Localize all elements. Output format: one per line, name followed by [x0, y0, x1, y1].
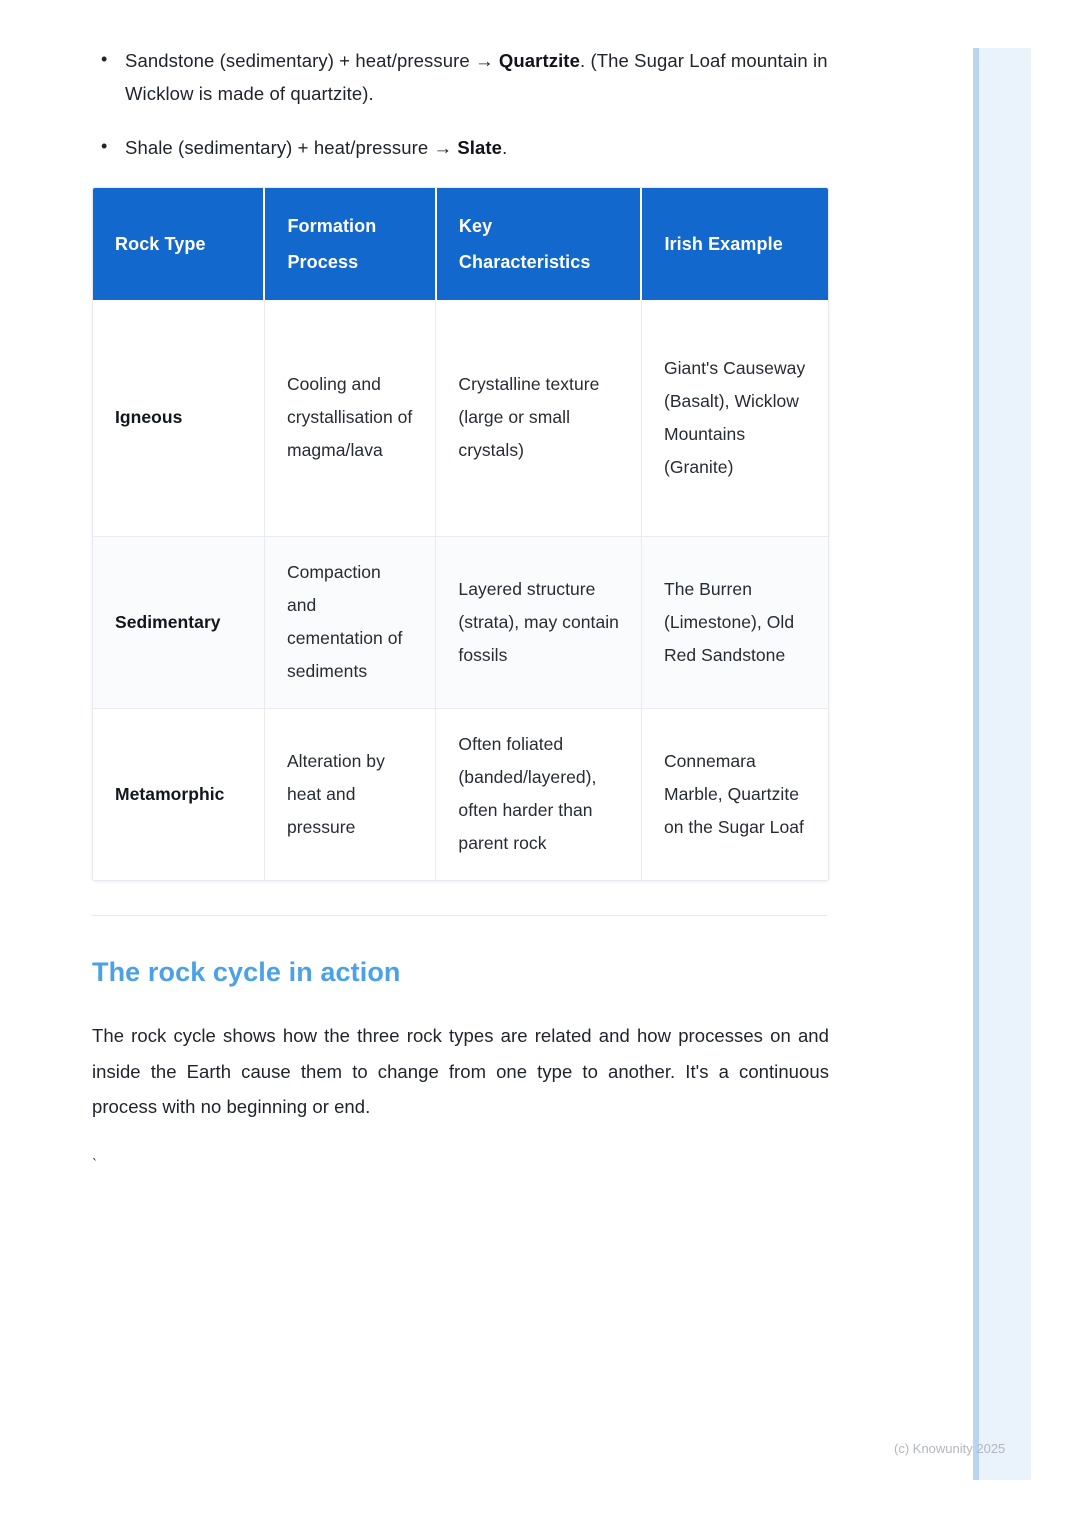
- cell-formation-process: Cooling and crystallisation of magma/lav…: [264, 300, 435, 536]
- cell-rock-type: Sedimentary: [93, 536, 264, 708]
- cell-irish-example: Connemara Marble, Quartzite on the Sugar…: [641, 708, 828, 880]
- list-item: Shale (sedimentary) + heat/pressure → Sl…: [92, 131, 881, 164]
- table-row: Igneous Cooling and crystallisation of m…: [93, 300, 828, 536]
- cell-rock-type: Igneous: [93, 300, 264, 536]
- rock-types-table: Rock Type Formation Process Key Characte…: [93, 188, 828, 880]
- metamorphic-examples-list: Sandstone (sedimentary) + heat/pressure …: [92, 44, 881, 164]
- cell-key-characteristics: Crystalline texture (large or small crys…: [436, 300, 642, 536]
- list-item: Sandstone (sedimentary) + heat/pressure …: [92, 44, 881, 110]
- cell-formation-process: Compaction and cementation of sediments: [264, 536, 435, 708]
- table-header: Rock Type Formation Process Key Characte…: [93, 188, 828, 300]
- column-header-formation-process: Formation Process: [264, 188, 435, 300]
- table-header-row: Rock Type Formation Process Key Characte…: [93, 188, 828, 300]
- footer-copyright: (c) Knowunity 2025: [894, 1440, 1005, 1457]
- column-header-rock-type: Rock Type: [93, 188, 264, 300]
- list-item-text-after: .: [502, 137, 507, 158]
- document-page: Sandstone (sedimentary) + heat/pressure …: [0, 0, 973, 1528]
- cell-key-characteristics: Layered structure (strata), may contain …: [436, 536, 642, 708]
- column-header-irish-example: Irish Example: [641, 188, 828, 300]
- list-item-bold-term: Slate: [457, 137, 502, 158]
- cell-formation-process: Alteration by heat and pressure: [264, 708, 435, 880]
- section-divider: [92, 915, 827, 916]
- rock-types-table-container: Rock Type Formation Process Key Characte…: [92, 187, 829, 881]
- right-side-rail-accent-line: [973, 48, 979, 1480]
- list-item-bold-term: Quartzite: [499, 50, 580, 71]
- list-item-text-before: Sandstone (sedimentary) + heat/pressure …: [125, 50, 499, 71]
- cell-irish-example: The Burren (Limestone), Old Red Sandston…: [641, 536, 828, 708]
- table-body: Igneous Cooling and crystallisation of m…: [93, 300, 828, 880]
- stray-backtick-mark: `: [92, 1156, 881, 1176]
- list-item-text-before: Shale (sedimentary) + heat/pressure →: [125, 137, 457, 158]
- table-row: Metamorphic Alteration by heat and press…: [93, 708, 828, 880]
- section-paragraph: The rock cycle shows how the three rock …: [92, 1018, 829, 1125]
- column-header-key-characteristics: Key Characteristics: [436, 188, 642, 300]
- section-heading: The rock cycle in action: [92, 955, 881, 989]
- cell-rock-type: Metamorphic: [93, 708, 264, 880]
- table-row: Sedimentary Compaction and cementation o…: [93, 536, 828, 708]
- right-side-rail: [973, 48, 1031, 1480]
- cell-irish-example: Giant's Causeway (Basalt), Wicklow Mount…: [641, 300, 828, 536]
- cell-key-characteristics: Often foliated (banded/layered), often h…: [436, 708, 642, 880]
